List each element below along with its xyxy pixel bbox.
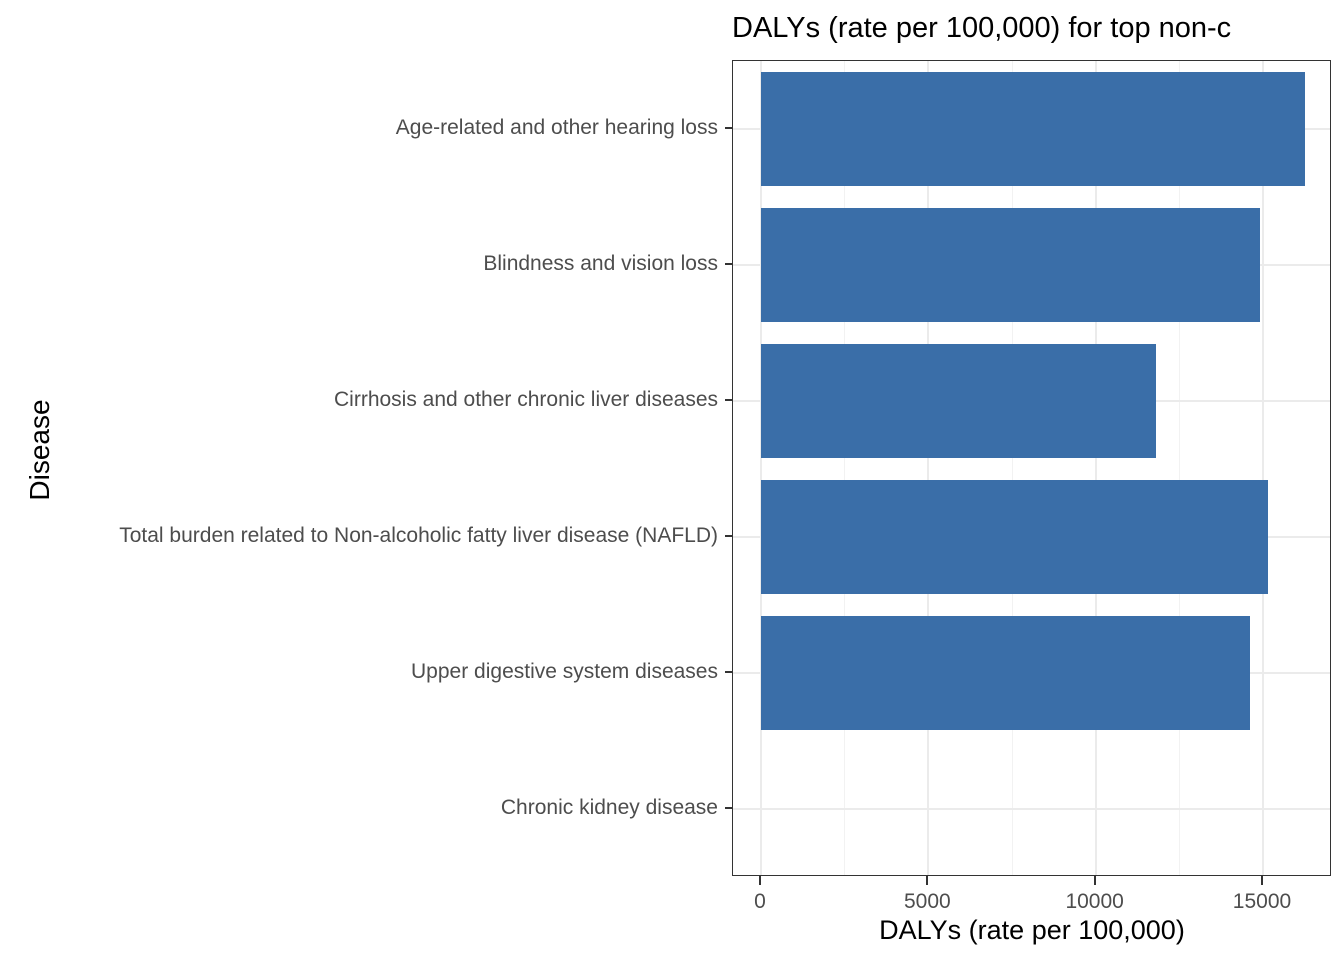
y-axis-tick-label: Age-related and other hearing loss (0, 116, 718, 140)
y-axis-tick-label: Total burden related to Non-alcoholic fa… (0, 524, 718, 548)
bar-chart: DALYs (rate per 100,000) for top non-c D… (0, 0, 1344, 960)
gridline-horizontal (733, 808, 1330, 810)
y-axis-tick (725, 263, 733, 265)
x-axis-tick (1094, 876, 1096, 885)
y-axis-tick-label: Chronic kidney disease (0, 796, 718, 820)
plot-panel (732, 60, 1331, 876)
bar (761, 72, 1305, 187)
bar (761, 208, 1260, 323)
bar (761, 344, 1156, 459)
bar (761, 616, 1250, 731)
y-axis-tick-label: Upper digestive system diseases (0, 660, 718, 684)
y-axis-tick (725, 807, 733, 809)
y-axis-tick (725, 399, 733, 401)
x-axis-title: DALYs (rate per 100,000) (732, 912, 1332, 948)
y-axis-tick (725, 127, 733, 129)
x-axis-tick (1261, 876, 1263, 885)
y-axis-tick (725, 671, 733, 673)
y-axis-tick (725, 535, 733, 537)
x-axis-tick (759, 876, 761, 885)
chart-title: DALYs (rate per 100,000) for top non-c (732, 8, 1344, 48)
bar (761, 480, 1268, 595)
x-axis-tick (926, 876, 928, 885)
y-axis-tick-label: Cirrhosis and other chronic liver diseas… (0, 388, 718, 412)
y-axis-tick-label: Blindness and vision loss (0, 252, 718, 276)
